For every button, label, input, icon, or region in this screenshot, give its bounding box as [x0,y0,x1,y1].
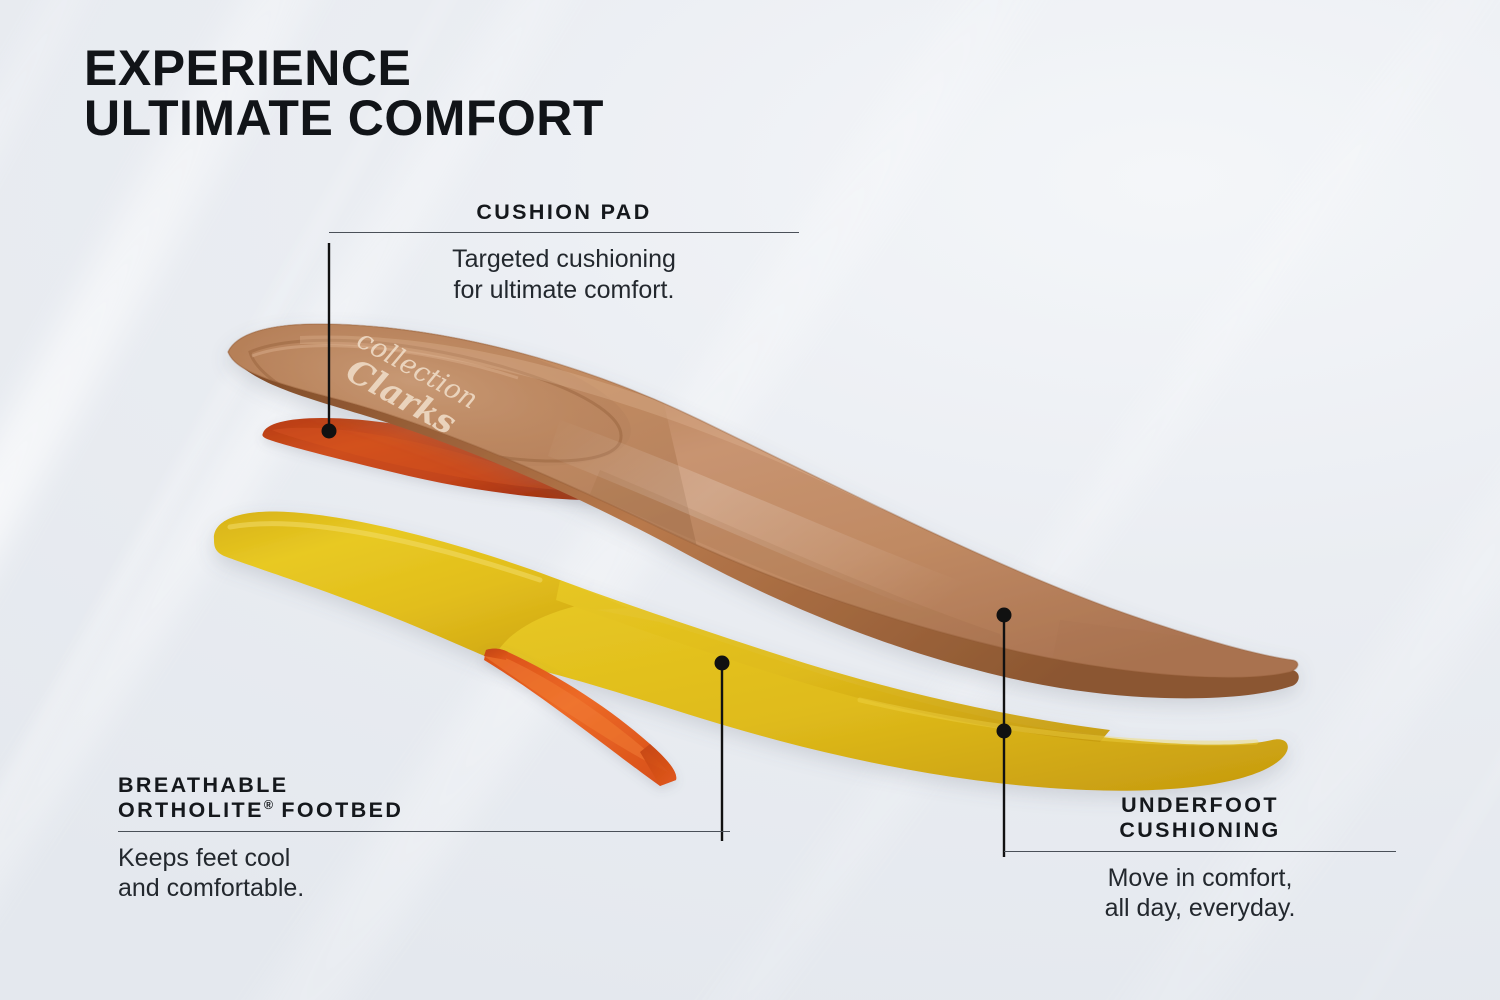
callout-cushion-pad: CUSHION PAD Targeted cushioning for ulti… [329,200,799,305]
callout-ortholite-footbed: BREATHABLE ORTHOLITE® FOOTBED Keeps feet… [118,773,578,903]
callout-ortholite-body-line-1: Keeps feet cool [118,843,578,873]
callout-underfoot-body-line-2: all day, everyday. [1004,893,1396,923]
registered-trademark-icon: ® [264,798,273,812]
callout-cushion-pad-body-line-1: Targeted cushioning [329,244,799,274]
callout-underfoot-title-line-1: UNDERFOOT [1004,793,1396,818]
callout-underfoot-title: UNDERFOOT CUSHIONING [1004,793,1396,844]
callout-ortholite-title: BREATHABLE ORTHOLITE® FOOTBED [118,773,578,824]
insole-layer: collection Clarks [200,289,1300,699]
callout-ortholite-title-line-2: ORTHOLITE® FOOTBED [118,798,578,824]
callout-ortholite-title-line-1: BREATHABLE [118,773,578,798]
callout-ortholite-title-suffix: FOOTBED [273,799,403,823]
callout-underfoot-cushioning: UNDERFOOT CUSHIONING Move in comfort, al… [1004,793,1396,923]
callout-cushion-pad-body-line-2: for ultimate comfort. [329,275,799,305]
callout-cushion-pad-rule [329,232,799,233]
callout-cushion-pad-title: CUSHION PAD [329,200,799,225]
callout-cushion-pad-body: Targeted cushioning for ultimate comfort… [329,244,799,305]
callout-ortholite-body: Keeps feet cool and comfortable. [118,843,578,904]
callout-ortholite-brand: ORTHOLITE [118,799,264,823]
callout-ortholite-rule [118,831,730,832]
callout-underfoot-rule [1004,851,1396,852]
infographic-canvas: EXPERIENCE ULTIMATE COMFORT [0,0,1500,1000]
callout-ortholite-body-line-2: and comfortable. [118,873,578,903]
callout-underfoot-body-line-1: Move in comfort, [1004,863,1396,893]
callout-underfoot-title-line-2: CUSHIONING [1004,818,1396,843]
callout-underfoot-body: Move in comfort, all day, everyday. [1004,863,1396,924]
